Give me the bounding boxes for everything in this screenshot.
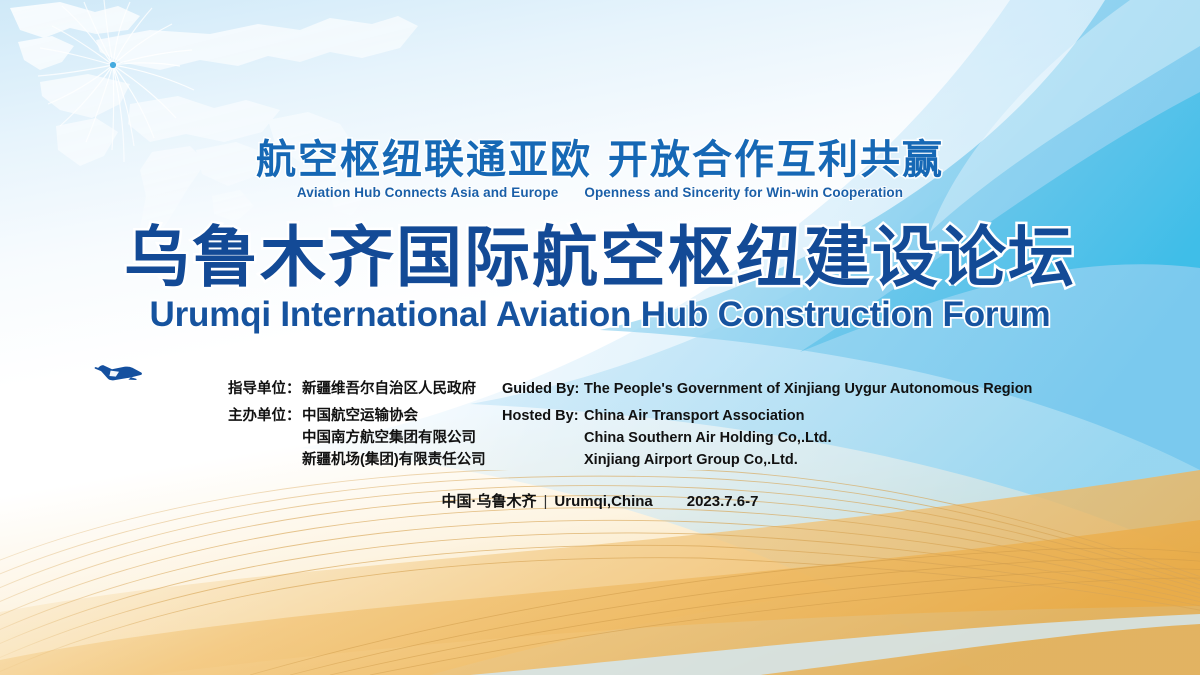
hosted-by-row-cn: 主办单位： 中国航空运输协会 中国南方航空集团有限公司 新疆机场(集团)有限责任… [228,405,486,471]
footer-meta: 中国·乌鲁木齐|Urumqi,China2023.7.6-7 [0,490,1200,511]
hosted-by-value-en-1: China Southern Air Holding Co,.Ltd. [584,427,832,449]
poster-canvas: 航空枢纽联通亚欧开放合作互利共赢 Aviation Hub Connects A… [0,0,1200,675]
guided-by-values-cn: 新疆维吾尔自治区人民政府 [302,378,476,400]
hosted-by-value-cn-2: 新疆机场(集团)有限责任公司 [302,449,486,471]
world-map-icon [0,0,1200,675]
hosted-by-values-en: China Air Transport Association China So… [584,405,832,471]
tagline-en-part2: Openness and Sincerity for Win-win Coope… [584,185,903,200]
airplane-icon [92,357,144,387]
guided-by-value-en-0: The People's Government of Xinjiang Uygu… [584,378,1032,400]
organizers-chinese: 指导单位： 新疆维吾尔自治区人民政府 主办单位： 中国航空运输协会 中国南方航空… [228,378,486,471]
guided-by-label-en: Guided By: [502,378,584,400]
guided-by-label-cn: 指导单位： [228,378,302,400]
tagline-chinese: 航空枢纽联通亚欧开放合作互利共赢 [0,138,1200,182]
location-english: Urumqi,China [554,493,652,510]
tagline-block: 航空枢纽联通亚欧开放合作互利共赢 Aviation Hub Connects A… [0,138,1200,200]
guided-by-value-cn-0: 新疆维吾尔自治区人民政府 [302,378,476,400]
hosted-by-values-cn: 中国航空运输协会 中国南方航空集团有限公司 新疆机场(集团)有限责任公司 [302,405,486,471]
event-date: 2023.7.6-7 [687,493,759,510]
location-chinese: 中国·乌鲁木齐 [442,493,537,510]
tagline-english: Aviation Hub Connects Asia and EuropeOpe… [0,185,1200,200]
guided-by-values-en: The People's Government of Xinjiang Uygu… [584,378,1032,400]
tagline-en-part1: Aviation Hub Connects Asia and Europe [297,185,558,200]
title-block: 乌鲁木齐国际航空枢纽建设论坛 Urumqi International Avia… [0,222,1200,335]
hosted-by-value-cn-0: 中国航空运输协会 [302,405,486,427]
hosted-by-label-cn: 主办单位： [228,405,302,471]
guided-by-row-en: Guided By: The People's Government of Xi… [502,378,1032,400]
hosted-by-value-en-2: Xinjiang Airport Group Co,.Ltd. [584,449,832,471]
bottom-curve-shapes [0,0,1200,675]
tagline-cn-part1: 航空枢纽联通亚欧 [256,138,592,182]
background-gradient [0,0,1200,675]
guided-by-row-cn: 指导单位： 新疆维吾尔自治区人民政府 [228,378,486,400]
organizers-english: Guided By: The People's Government of Xi… [502,378,1032,471]
hosted-by-value-en-0: China Air Transport Association [584,405,832,427]
blue-swoosh-shapes [0,0,1200,675]
hosted-by-value-cn-1: 中国南方航空集团有限公司 [302,427,486,449]
tagline-cn-part2: 开放合作互利共赢 [608,138,944,182]
hosted-by-label-en: Hosted By: [502,405,584,471]
page-title-chinese: 乌鲁木齐国际航空枢纽建设论坛 [0,222,1200,293]
footer-separator: | [537,493,555,510]
page-title-english: Urumqi International Aviation Hub Constr… [0,295,1200,335]
hub-point-icon [110,62,116,68]
hosted-by-row-en: Hosted By: China Air Transport Associati… [502,405,1032,471]
